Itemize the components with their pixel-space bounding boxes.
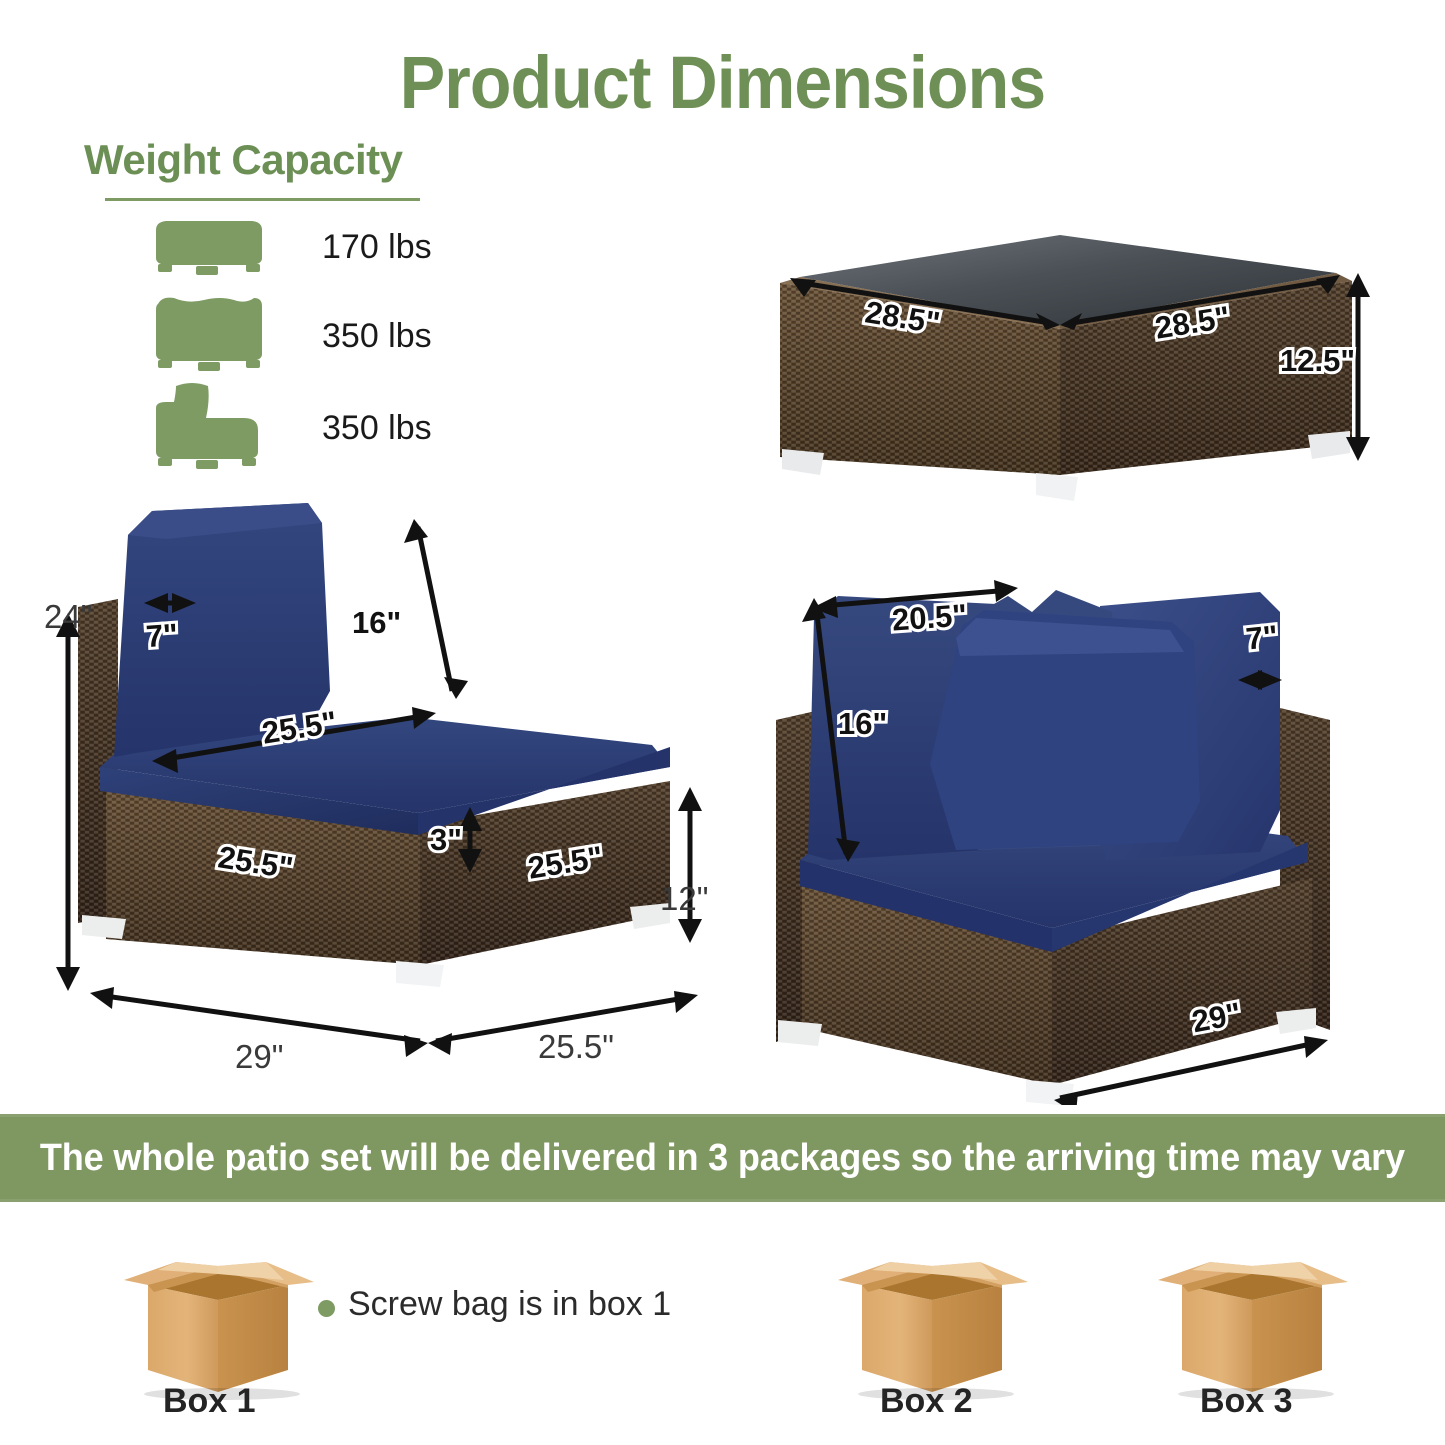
- box-2-label: Box 2: [880, 1382, 973, 1421]
- corner-dim-back-thickness: 7": [1244, 618, 1280, 657]
- box-3-label: Box 3: [1200, 1382, 1293, 1421]
- banner-rule-bottom: [0, 1199, 1445, 1202]
- corner-dim-back-width: 20.5": [891, 597, 968, 638]
- armless-dim-frame-height: 12": [660, 880, 708, 918]
- page-title: Product Dimensions: [58, 40, 1387, 125]
- ottoman-icon: [148, 214, 270, 281]
- box-1-label: Box 1: [163, 1382, 256, 1421]
- coffee-table-dim-height: 12.5": [1280, 343, 1355, 379]
- screw-bag-note: Screw bag is in box 1: [348, 1285, 671, 1324]
- weight-capacity-value-1: 170 lbs: [322, 228, 432, 267]
- corner-dim-back-height: 16": [838, 706, 887, 742]
- weight-capacity-heading: Weight Capacity: [84, 136, 402, 184]
- weight-capacity-value-2: 350 lbs: [322, 317, 432, 356]
- weight-capacity-row-2: 350 lbs: [148, 288, 432, 385]
- delivery-banner: The whole patio set will be delivered in…: [0, 1117, 1445, 1199]
- armless-dim-seat-thickness: 3": [430, 822, 462, 858]
- armless-dim-back-thickness: 7": [145, 617, 179, 655]
- bullet-dot-icon: [318, 1300, 335, 1317]
- weight-capacity-value-3: 350 lbs: [322, 409, 432, 448]
- armless-dim-overall-height: 24": [44, 598, 92, 636]
- armless-chair-icon: [148, 378, 270, 479]
- armless-dim-base-depth: 25.5": [538, 1028, 614, 1066]
- corner-chair-icon: [148, 288, 270, 385]
- weight-capacity-divider: [105, 198, 420, 201]
- infographic-root: Product Dimensions Weight Capacity 170 l…: [0, 0, 1445, 1445]
- armless-dim-base-width: 29": [235, 1038, 283, 1076]
- weight-capacity-row-3: 350 lbs: [148, 378, 432, 479]
- delivery-banner-text: The whole patio set will be delivered in…: [40, 1137, 1405, 1180]
- armless-dim-back-height: 16": [352, 605, 401, 641]
- weight-capacity-row-1: 170 lbs: [148, 214, 432, 281]
